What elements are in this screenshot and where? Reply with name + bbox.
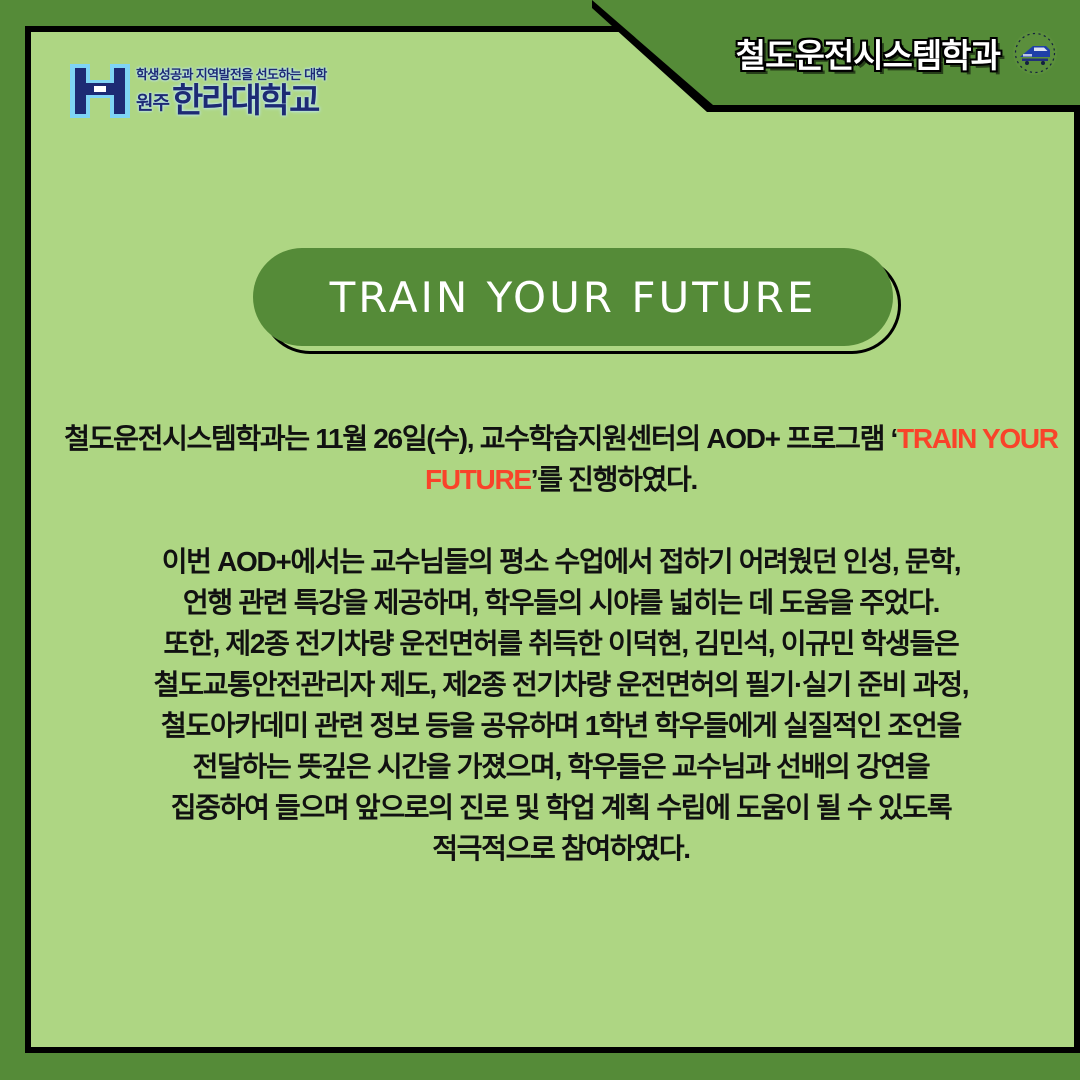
detail-line: 철도교통안전관리자 제도, 제2종 전기차량 운전면허의 필기·실기 준비 과정… [61, 664, 1061, 705]
department-title: 철도운전시스템학과 [736, 29, 1000, 77]
detail-line: 철도아카데미 관련 정보 등을 공유하며 1학년 학우들에게 실질적인 조언을 [61, 705, 1061, 746]
detail-line: 이번 AOD+에서는 교수님들의 평소 수업에서 접하기 어려웠던 인성, 문학… [61, 541, 1061, 582]
detail-line: 집중하여 들으며 앞으로의 진로 및 학업 계획 수립에 도움이 될 수 있도록 [61, 787, 1061, 828]
logo-tagline: 학생성공과 지역발전을 선도하는 대학 [136, 67, 327, 82]
detail-line: 또한, 제2종 전기차량 운전면허를 취득한 이덕현, 김민석, 이규민 학생들… [61, 623, 1061, 664]
logo-university-name: 한라대학교 [172, 84, 318, 118]
title-pill-group: TRAIN YOUR FUTURE [253, 248, 893, 346]
logo-wordmark: 학생성공과 지역발전을 선도하는 대학 원주 한라대학교 [136, 64, 327, 118]
railway-crest-emblem-icon [1012, 30, 1058, 76]
page-title: TRAIN YOUR FUTURE [330, 273, 817, 322]
detail-line: 적극적으로 참여하였다. [61, 828, 1061, 869]
lead-paragraph: 철도운전시스템학과는 11월 26일(수), 교수학습지원센터의 AOD+ 프로… [61, 418, 1061, 500]
lead-text-after: ’를 진행하였다. [531, 464, 697, 495]
logo-name-row: 원주 한라대학교 [136, 84, 327, 118]
title-pill: TRAIN YOUR FUTURE [253, 248, 893, 346]
card-right-border [1074, 111, 1080, 1047]
body-copy: 철도운전시스템학과는 11월 26일(수), 교수학습지원센터의 AOD+ 프로… [61, 418, 1061, 869]
poster-card: 학생성공과 지역발전을 선도하는 대학 원주 한라대학교 TRAIN YOUR … [25, 26, 1080, 1053]
detail-line: 언행 관련 특강을 제공하며, 학우들의 시야를 넓히는 데 도움을 주었다. [61, 582, 1061, 623]
detail-paragraph: 이번 AOD+에서는 교수님들의 평소 수업에서 접하기 어려웠던 인성, 문학… [61, 541, 1061, 869]
hallym-h-mark-icon [66, 60, 134, 122]
university-logo: 학생성공과 지역발전을 선도하는 대학 원주 한라대학교 [66, 60, 327, 122]
lead-text-before: 철도운전시스템학과는 11월 26일(수), 교수학습지원센터의 AOD+ 프로… [64, 423, 897, 454]
paragraph-spacer [61, 500, 1061, 541]
logo-campus-prefix: 원주 [136, 88, 169, 115]
header-title-group: 철도운전시스템학과 [736, 0, 1058, 105]
detail-line: 전달하는 뜻깊은 시간을 가졌으며, 학우들은 교수님과 선배의 강연을 [61, 746, 1061, 787]
